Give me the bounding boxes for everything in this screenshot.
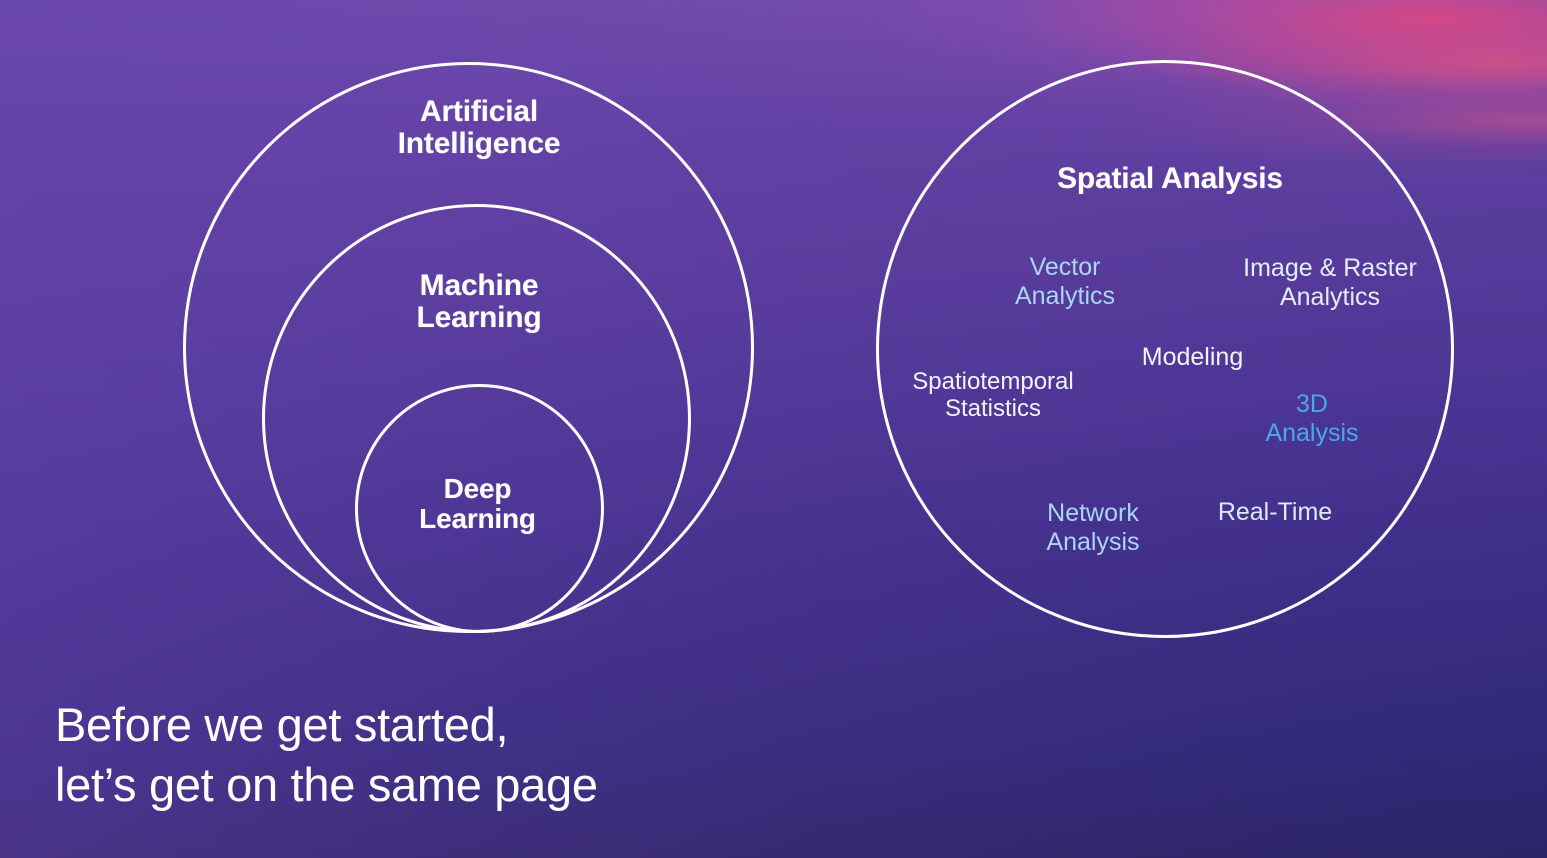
- label-artificial-intelligence: Artificial Intelligence: [329, 96, 629, 160]
- label-real-time: Real-Time: [1180, 498, 1370, 527]
- label-network-analysis: Network Analysis: [1008, 499, 1178, 556]
- label-spatial-analysis-title: Spatial Analysis: [1000, 163, 1340, 195]
- label-spatiotemporal-statistics: Spatiotemporal Statistics: [893, 368, 1093, 423]
- slide-canvas: Artificial Intelligence Machine Learning…: [0, 0, 1547, 858]
- label-3d-analysis: 3D Analysis: [1232, 390, 1392, 447]
- label-machine-learning: Machine Learning: [329, 270, 629, 334]
- label-modeling: Modeling: [1095, 343, 1290, 372]
- slide-caption: Before we get started, let’s get on the …: [55, 695, 598, 815]
- label-deep-learning: Deep Learning: [340, 474, 615, 533]
- label-vector-analytics: Vector Analytics: [975, 253, 1155, 310]
- label-image-raster-analytics: Image & Raster Analytics: [1215, 254, 1445, 311]
